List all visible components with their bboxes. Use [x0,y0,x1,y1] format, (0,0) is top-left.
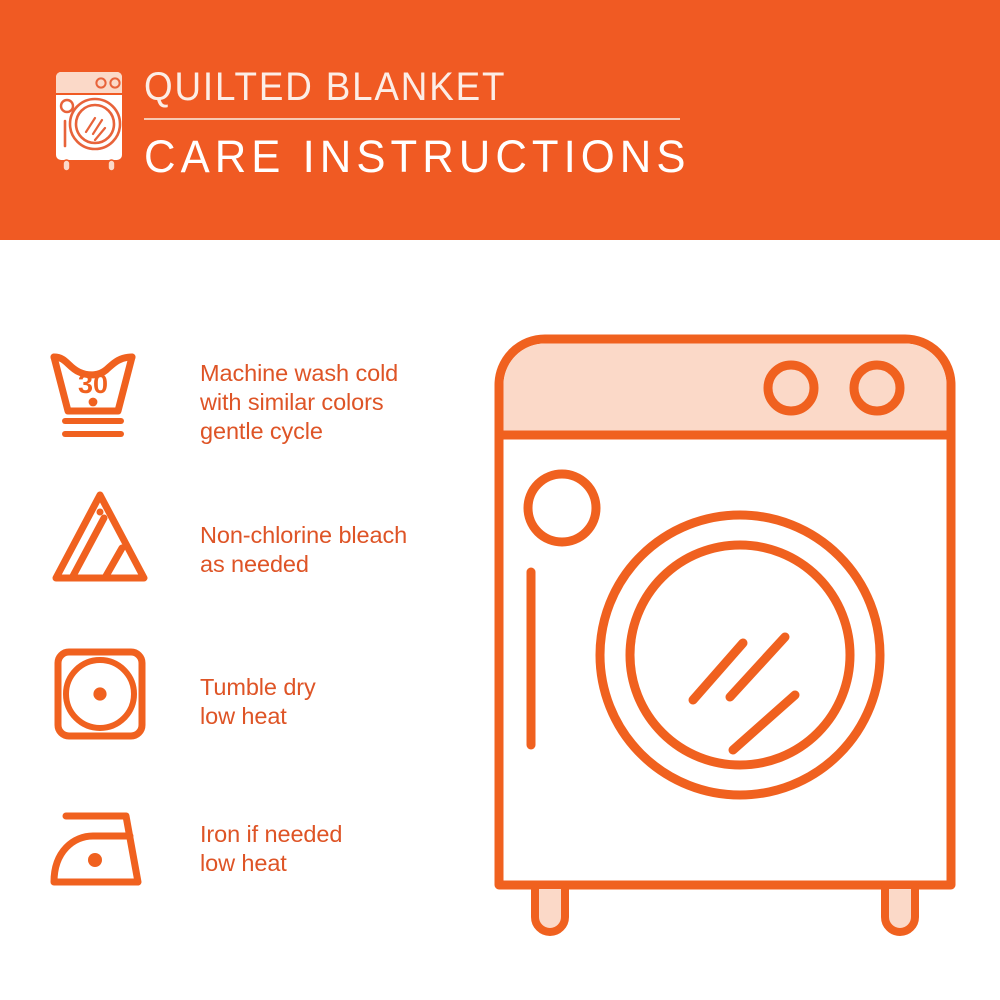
leg-right [885,885,915,932]
front-load-washing-machine-illustration [485,325,965,945]
control-panel [504,344,947,436]
care-item-machine-wash: 30 Machine wash cold with similar colors… [48,345,478,446]
page-title: CARE INSTRUCTIONS [144,130,687,184]
care-text-line: as needed [200,550,407,579]
care-instructions-list: 30 Machine wash cold with similar colors… [0,240,480,1000]
title-divider [144,118,680,120]
care-item-iron-text: Iron if needed low heat [200,820,342,878]
care-text-line: Non-chlorine bleach [200,521,407,550]
care-item-iron: Iron if needed low heat [48,796,478,896]
wash-temperature-value: 30 [78,369,108,399]
care-item-bleach: Non-chlorine bleach as needed [48,488,478,588]
non-chlorine-bleach-triangle-icon [48,488,156,588]
care-item-tumble-dry-text: Tumble dry low heat [200,673,316,731]
wash-tub-30-gentle-icon: 30 [48,345,156,445]
care-item-tumble-dry: Tumble dry low heat [48,645,478,745]
iron-low-heat-icon [48,796,156,896]
care-text-line: Machine wash cold [200,359,398,388]
care-text-line: low heat [200,702,316,731]
washing-machine-icon [45,66,137,174]
care-text-line: with similar colors [200,388,398,417]
care-text-line: Iron if needed [200,820,342,849]
leg-left [535,885,565,932]
header-banner: QUILTED BLANKET CARE INSTRUCTIONS [0,0,1000,240]
header-title-block: QUILTED BLANKET CARE INSTRUCTIONS [144,62,704,184]
tumble-dry-low-heat-icon [48,645,156,745]
care-item-machine-wash-text: Machine wash cold with similar colors ge… [200,359,398,446]
care-item-bleach-text: Non-chlorine bleach as needed [200,521,407,579]
care-text-line: low heat [200,849,342,878]
care-text-line: gentle cycle [200,417,398,446]
care-text-line: Tumble dry [200,673,316,702]
product-title: QUILTED BLANKET [144,62,659,112]
